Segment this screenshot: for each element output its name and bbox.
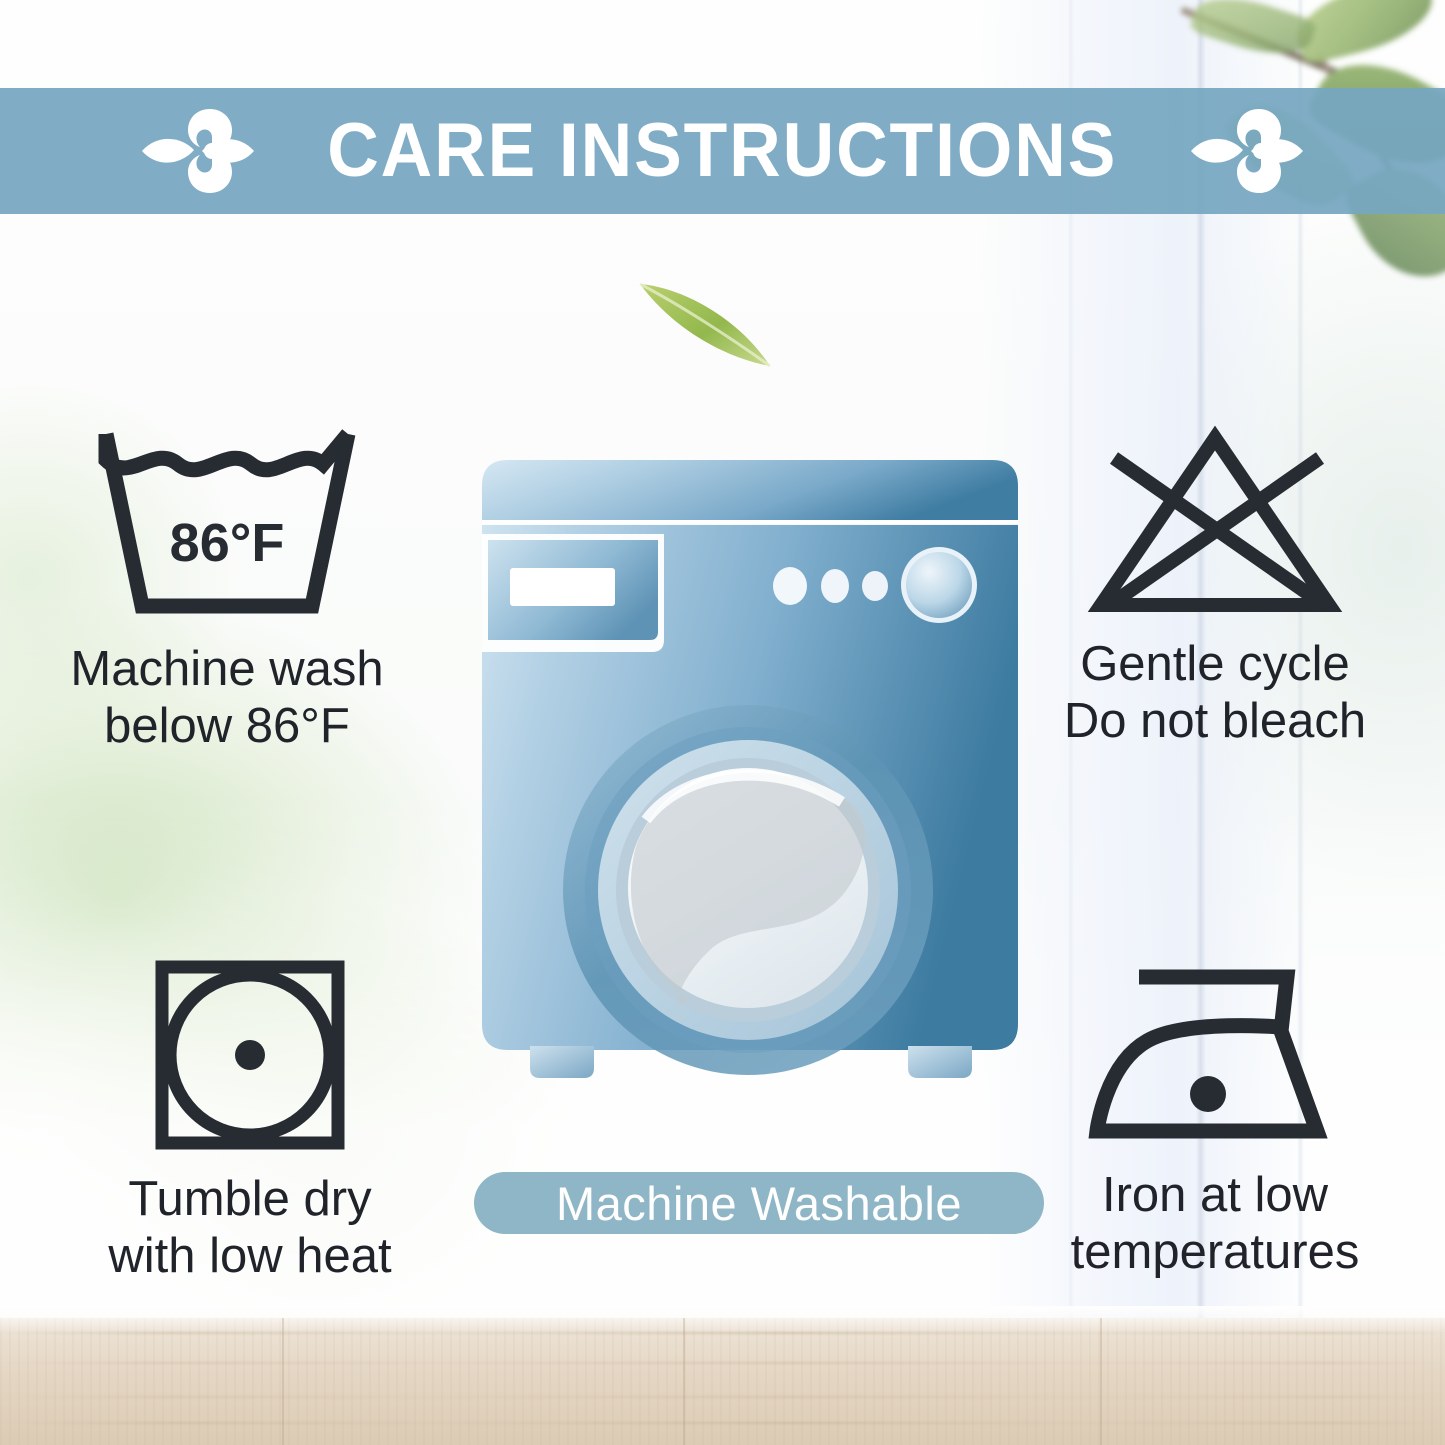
tumble-dry-square-circle-one-dot-icon (150, 955, 350, 1155)
machine-washable-badge: Machine Washable (474, 1172, 1044, 1234)
care-symbol-label: Tumble dry with low heat (108, 1171, 391, 1285)
care-symbol-tumble-dry: Tumble dry with low heat (35, 955, 465, 1285)
iron-one-dot-icon (1081, 955, 1349, 1151)
triangle-crossed-out-icon (1084, 420, 1346, 620)
care-symbol-label: Gentle cycle Do not bleach (1064, 636, 1366, 750)
care-symbol-machine-wash: 86°F Machine wash below 86°F (12, 420, 442, 755)
care-symbol-iron-low: Iron at low temperatures (1000, 955, 1430, 1281)
page-title: CARE INSTRUCTIONS (327, 113, 1117, 189)
header-banner: CARE INSTRUCTIONS (0, 88, 1445, 214)
fleur-de-lis-ornament-right-icon (1187, 103, 1307, 199)
wood-table-surface (0, 1318, 1445, 1445)
badge-label: Machine Washable (556, 1176, 962, 1231)
iron-icon-wrap (1081, 955, 1349, 1151)
care-instructions-infographic: CARE INSTRUCTIONS (0, 0, 1445, 1445)
tumble-dry-icon-wrap (150, 955, 350, 1155)
fleur-de-lis-ornament-left-icon (138, 103, 258, 199)
do-not-bleach-icon-wrap (1084, 420, 1346, 620)
care-symbol-do-not-bleach: Gentle cycle Do not bleach (1000, 420, 1430, 750)
care-symbol-label: Iron at low temperatures (1071, 1167, 1360, 1281)
floating-green-leaf-icon (630, 272, 780, 377)
care-symbol-label: Machine wash below 86°F (70, 641, 383, 755)
wash-tub-icon-wrap: 86°F (82, 420, 372, 625)
washing-machine-illustration (470, 450, 1030, 1130)
wash-temperature-value: 86°F (82, 512, 372, 574)
